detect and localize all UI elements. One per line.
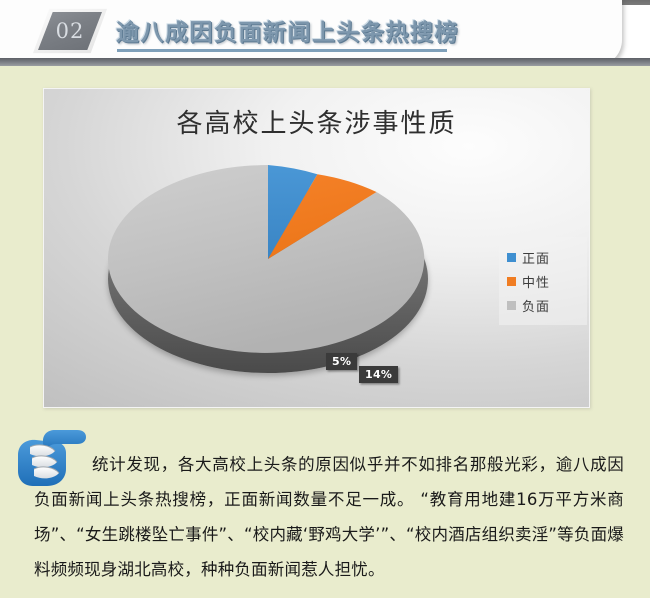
badge-number-label: 02: [38, 12, 102, 50]
chart-legend: 正面 中性 负面: [499, 237, 587, 325]
legend-label-neutral: 中性: [522, 272, 550, 291]
legend-label-negative: 负面: [522, 296, 550, 315]
title-underline: [117, 49, 447, 52]
header-bottom-strip: [0, 58, 650, 66]
chart-panel: 各高校上头条涉事性质: [43, 88, 590, 408]
pie-chart: 5% 14% 81%: [108, 157, 428, 387]
legend-swatch-negative: [507, 301, 516, 310]
legend-item-negative[interactable]: 负面: [507, 293, 581, 317]
legend-swatch-positive: [507, 253, 516, 262]
legend-label-positive: 正面: [522, 248, 550, 267]
pie-label-positive: 5%: [326, 353, 357, 370]
chart-title: 各高校上头条涉事性质: [44, 103, 589, 140]
legend-swatch-neutral: [507, 277, 516, 286]
body-paragraph: 统计发现，各大高校上头条的原因似乎并不如排名那般光彩，逾八成因负面新闻上头条热搜…: [34, 447, 624, 587]
legend-item-positive[interactable]: 正面: [507, 245, 581, 269]
page-title: 逾八成因负面新闻上头条热搜榜: [116, 13, 459, 47]
pie-slice-negative: [108, 165, 424, 353]
legend-item-neutral[interactable]: 中性: [507, 269, 581, 293]
pie-top-surface: [108, 165, 428, 353]
pie-slices-svg: [108, 165, 428, 353]
pie-label-neutral: 14%: [359, 366, 398, 383]
slide-root: 02 逾八成因负面新闻上头条热搜榜 各高校上头条涉事性质: [0, 0, 650, 598]
slide-header: 02 逾八成因负面新闻上头条热搜榜: [0, 0, 650, 66]
section-number-badge: 02: [33, 8, 107, 54]
